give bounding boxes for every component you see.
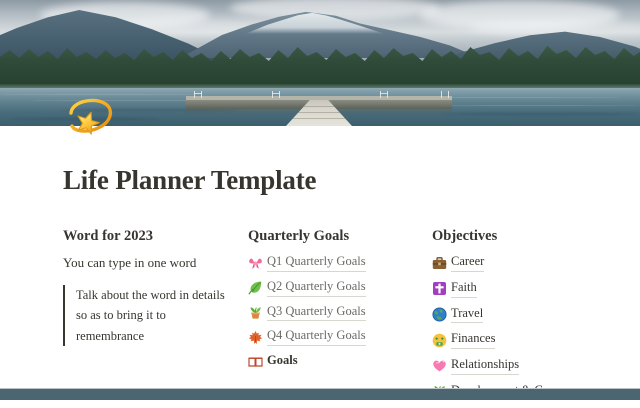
page-body: Life Planner Template Word for 2023 You …	[0, 126, 640, 400]
dock-ladder-far	[448, 91, 449, 98]
column-quarterly-goals: Quarterly Goals Q1 Quarterly Goals	[248, 228, 432, 408]
page-link-label[interactable]: Goals	[267, 353, 298, 370]
objectives-link-list: Career Faith	[432, 254, 623, 400]
paragraph-word-prompt[interactable]: You can type in one word	[63, 254, 236, 273]
maple-leaf-icon	[248, 330, 263, 345]
link-label[interactable]: Travel	[451, 306, 483, 324]
quote-word-details[interactable]: Talk about the word in details so as to …	[63, 285, 236, 346]
treeline	[0, 40, 640, 90]
list-item[interactable]: Finances	[432, 331, 623, 349]
ladder-rung	[194, 93, 202, 94]
link-label[interactable]: Relationships	[451, 357, 519, 375]
heading-quarterly-goals[interactable]: Quarterly Goals	[248, 228, 420, 245]
dock-platform-edge	[186, 96, 452, 100]
quarterly-goals-link-list: Q1 Quarterly Goals Q2 Quarterly Goals	[248, 254, 420, 369]
ladder-rung	[380, 93, 388, 94]
seedling-pot-icon	[248, 305, 263, 320]
page-title[interactable]: Life Planner Template	[63, 167, 316, 194]
link-label[interactable]: Q2 Quarterly Goals	[267, 279, 366, 297]
briefcase-icon	[432, 256, 447, 271]
latin-cross-icon	[432, 281, 447, 296]
list-item[interactable]: Travel	[432, 306, 623, 324]
link-label[interactable]: Q4 Quarterly Goals	[267, 328, 366, 346]
money-mouth-face-icon	[432, 333, 447, 348]
forest	[0, 40, 640, 90]
link-label[interactable]: Finances	[451, 331, 495, 349]
list-item[interactable]: Career	[432, 254, 623, 272]
link-label[interactable]: Faith	[451, 280, 477, 298]
column-objectives: Objectives Career	[432, 228, 623, 408]
sparkling-heart-icon	[432, 358, 447, 373]
dock-ladder-far	[441, 91, 442, 98]
heading-word-for-2023[interactable]: Word for 2023	[63, 228, 236, 245]
heading-objectives[interactable]: Objectives	[432, 228, 623, 245]
list-item[interactable]: Faith	[432, 280, 623, 298]
list-item[interactable]: Q4 Quarterly Goals	[248, 328, 420, 346]
list-item[interactable]: Q3 Quarterly Goals	[248, 304, 420, 322]
link-label[interactable]: Q1 Quarterly Goals	[267, 254, 366, 272]
link-label[interactable]: Q3 Quarterly Goals	[267, 304, 366, 322]
list-item[interactable]: Q2 Quarterly Goals	[248, 279, 420, 297]
list-item[interactable]: Q1 Quarterly Goals	[248, 254, 420, 272]
open-book-icon	[248, 354, 263, 369]
list-item[interactable]: Relationships	[432, 357, 623, 375]
column-word-for-2023: Word for 2023 You can type in one word T…	[63, 228, 248, 408]
herb-leaf-icon	[248, 280, 263, 295]
link-label[interactable]: Career	[451, 254, 484, 272]
bottom-status-bar	[0, 388, 640, 400]
list-item[interactable]: Goals	[248, 353, 420, 370]
globe-earth-icon	[432, 307, 447, 322]
column-list: Word for 2023 You can type in one word T…	[63, 228, 623, 408]
shooting-star-icon[interactable]	[62, 96, 116, 150]
ribbon-icon	[248, 256, 263, 271]
ladder-rung	[272, 93, 280, 94]
